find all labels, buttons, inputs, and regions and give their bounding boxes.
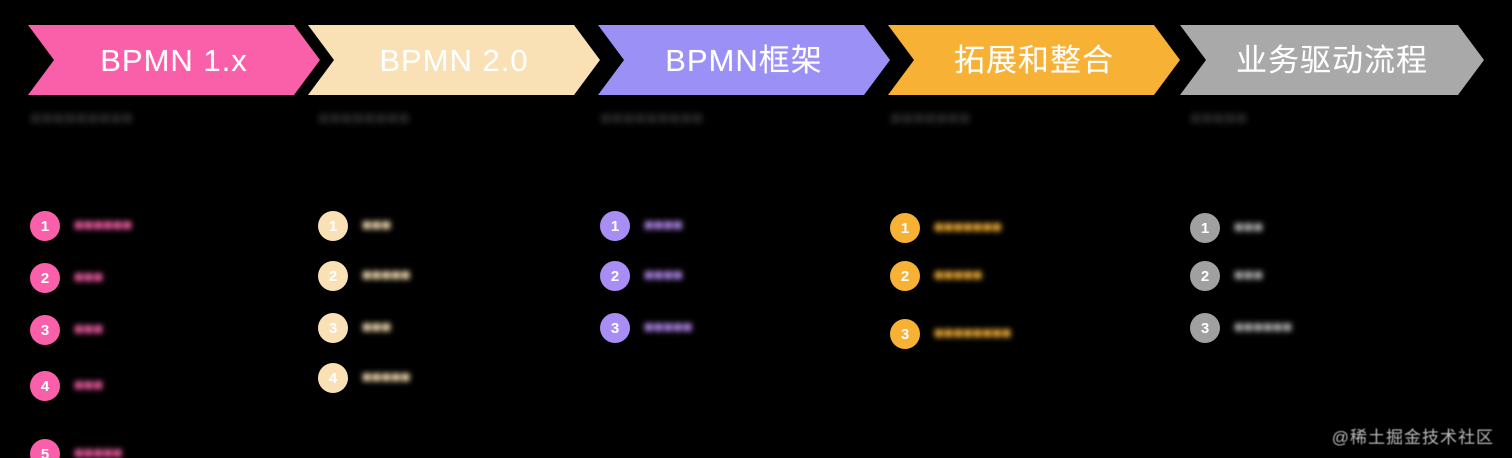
item-number-badge: 4: [30, 371, 60, 401]
item-number-badge: 3: [1190, 313, 1220, 343]
item-number-badge: 1: [1190, 213, 1220, 243]
item-label: ■■■■■: [362, 369, 410, 387]
item-label: ■■■■■■: [74, 217, 132, 235]
list-item[interactable]: 5■■■■■: [30, 438, 122, 458]
item-label: ■■■: [74, 377, 103, 395]
item-label: ■■■■■: [74, 445, 122, 458]
item-label: ■■■■■■■: [934, 219, 1002, 237]
stage-column-bpmn-1x: ■■■■■■■■■1■■■■■■2■■■3■■■4■■■5■■■■■: [30, 104, 322, 148]
list-item[interactable]: 1■■■■■■: [30, 210, 132, 242]
stage-column-heading: ■■■■■: [1190, 104, 1494, 134]
stage-chevron-bpmn-1x[interactable]: BPMN 1.x: [28, 25, 320, 95]
stage-chevron-label: 拓展和整合: [954, 45, 1114, 76]
watermark: @稀土掘金技术社区: [1332, 423, 1494, 448]
item-label: ■■■■■: [934, 267, 982, 285]
stage-detail-columns: ■■■■■■■■■1■■■■■■2■■■3■■■4■■■5■■■■■■■■■■■…: [0, 104, 1512, 458]
list-item[interactable]: 3■■■■■: [600, 312, 692, 344]
item-number-badge: 3: [318, 313, 348, 343]
stage-chevron-label: BPMN 1.x: [100, 45, 248, 76]
stage-column-bpmn-20: ■■■■■■■■1■■■2■■■■■3■■■4■■■■■: [318, 104, 610, 148]
list-item[interactable]: 4■■■: [30, 370, 103, 402]
stage-column-heading: ■■■■■■■■■: [600, 104, 892, 134]
item-number-badge: 2: [890, 261, 920, 291]
stage-chevron-extension-integration[interactable]: 拓展和整合: [888, 25, 1180, 95]
item-number-badge: 2: [318, 261, 348, 291]
stage-chevron-band: BPMN 1.xBPMN 2.0BPMN框架拓展和整合业务驱动流程: [0, 25, 1512, 95]
item-number-badge: 1: [30, 211, 60, 241]
item-label: ■■■■: [644, 217, 683, 235]
list-item[interactable]: 3■■■: [30, 314, 103, 346]
list-item[interactable]: 2■■■: [1190, 260, 1263, 292]
list-item[interactable]: 1■■■: [318, 210, 391, 242]
item-label: ■■■: [1234, 267, 1263, 285]
list-item[interactable]: 2■■■■■: [890, 260, 982, 292]
item-label: ■■■■■■: [1234, 319, 1292, 337]
item-label: ■■■: [74, 321, 103, 339]
stage-chevron-label: 业务驱动流程: [1236, 45, 1428, 76]
list-item[interactable]: 4■■■■■: [318, 362, 410, 394]
item-number-badge: 2: [30, 263, 60, 293]
item-number-badge: 5: [30, 439, 60, 458]
list-item[interactable]: 1■■■: [1190, 212, 1263, 244]
stage-chevron-label: BPMN框架: [665, 45, 823, 76]
item-number-badge: 1: [600, 211, 630, 241]
stage-chevron-label: BPMN 2.0: [379, 45, 528, 76]
item-label: ■■■: [1234, 219, 1263, 237]
item-number-badge: 1: [890, 213, 920, 243]
item-number-badge: 3: [890, 319, 920, 349]
list-item[interactable]: 2■■■■: [600, 260, 683, 292]
list-item[interactable]: 2■■■■■: [318, 260, 410, 292]
item-number-badge: 1: [318, 211, 348, 241]
stage-column-heading: ■■■■■■■■■: [30, 104, 322, 134]
stage-chevron-business-driven-process[interactable]: 业务驱动流程: [1180, 25, 1484, 95]
list-item[interactable]: 1■■■■: [600, 210, 683, 242]
item-number-badge: 4: [318, 363, 348, 393]
stage-column-bpmn-framework: ■■■■■■■■■1■■■■2■■■■3■■■■■: [600, 104, 892, 148]
stage-column-extension-integration: ■■■■■■■1■■■■■■■2■■■■■3■■■■■■■■: [890, 104, 1182, 148]
item-number-badge: 3: [30, 315, 60, 345]
item-number-badge: 2: [600, 261, 630, 291]
item-label: ■■■■■■■■: [934, 325, 1011, 343]
list-item[interactable]: 2■■■: [30, 262, 103, 294]
stage-column-business-driven-process: ■■■■■1■■■2■■■3■■■■■■: [1190, 104, 1494, 148]
stage-chevron-bpmn-20[interactable]: BPMN 2.0: [308, 25, 600, 95]
item-number-badge: 2: [1190, 261, 1220, 291]
stage-column-heading: ■■■■■■■: [890, 104, 1182, 134]
item-label: ■■■: [362, 217, 391, 235]
item-label: ■■■■■: [362, 267, 410, 285]
list-item[interactable]: 1■■■■■■■: [890, 212, 1002, 244]
item-label: ■■■■■: [644, 319, 692, 337]
list-item[interactable]: 3■■■■■■: [1190, 312, 1292, 344]
stage-chevron-bpmn-framework[interactable]: BPMN框架: [598, 25, 890, 95]
list-item[interactable]: 3■■■: [318, 312, 391, 344]
item-label: ■■■■: [644, 267, 683, 285]
item-label: ■■■: [362, 319, 391, 337]
item-number-badge: 3: [600, 313, 630, 343]
list-item[interactable]: 3■■■■■■■■: [890, 318, 1011, 350]
item-label: ■■■: [74, 269, 103, 287]
stage-column-heading: ■■■■■■■■: [318, 104, 610, 134]
